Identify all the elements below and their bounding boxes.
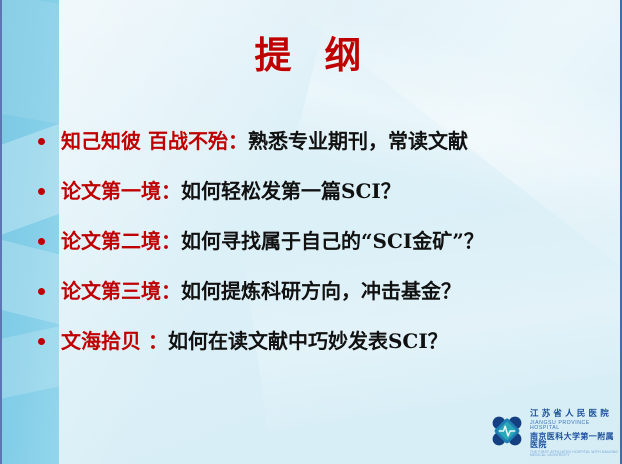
list-item-highlight: 文海拾贝 ： <box>61 329 168 353</box>
bullet-dot-icon <box>38 338 45 345</box>
list-item-body: 如何轻松发第一篇SCI？ <box>181 179 401 203</box>
list-item-highlight: 论文第一境： <box>61 179 181 203</box>
hospital-logo-text: 江苏省人民医院 JIANGSU PROVINCE HOSPITAL 南京医科大学… <box>530 410 620 458</box>
list-item-text: 文海拾贝 ：如何在读文献中巧妙发表SCI？ <box>61 330 448 352</box>
bullet-dot-icon <box>38 188 45 195</box>
list-item-highlight: 论文第二境： <box>61 229 181 253</box>
bullet-dot-icon <box>38 288 45 295</box>
list-item-body: 熟悉专业期刊，常读文献 <box>248 129 468 153</box>
bullet-dot-icon <box>38 138 45 145</box>
list-item-text: 论文第二境：如何寻找属于自己的“SCI金矿”？ <box>61 230 484 252</box>
hospital-subname-en: THE FIRST AFFILIATED HOSPITAL WITH NANJI… <box>530 451 620 458</box>
hospital-name-cn: 江苏省人民医院 <box>530 410 620 419</box>
slide-title: 提 纲 <box>2 25 622 79</box>
list-item-highlight: 知己知彼 百战不殆： <box>61 129 248 153</box>
bullet-dot-icon <box>38 238 45 245</box>
list-item-text: 论文第三境：如何提炼科研方向，冲击基金？ <box>61 280 461 302</box>
hospital-subname-cn: 南京医科大学第一附属医院 <box>530 433 620 449</box>
hospital-logo: 江苏省人民医院 JIANGSU PROVINCE HOSPITAL 南京医科大学… <box>489 410 620 458</box>
list-item: 论文第一境：如何轻松发第一篇SCI？ <box>36 166 606 216</box>
list-item: 论文第三境：如何提炼科研方向，冲击基金？ <box>36 266 606 316</box>
outline-list: 知己知彼 百战不殆：熟悉专业期刊，常读文献 论文第一境：如何轻松发第一篇SCI？… <box>36 116 606 366</box>
list-item-body: 如何寻找属于自己的“SCI金矿”？ <box>181 229 484 253</box>
list-item: 论文第二境：如何寻找属于自己的“SCI金矿”？ <box>36 216 606 266</box>
list-item-text: 知己知彼 百战不殆：熟悉专业期刊，常读文献 <box>61 130 468 152</box>
list-item-highlight: 论文第三境： <box>61 279 181 303</box>
list-item-text: 论文第一境：如何轻松发第一篇SCI？ <box>61 180 401 202</box>
hospital-name-en: JIANGSU PROVINCE HOSPITAL <box>530 421 620 431</box>
list-item-body: 如何提炼科研方向，冲击基金？ <box>181 279 461 303</box>
list-item-body: 如何在读文献中巧妙发表SCI？ <box>168 329 448 353</box>
hospital-clover-ecg-icon <box>489 413 525 454</box>
list-item: 文海拾贝 ：如何在读文献中巧妙发表SCI？ <box>36 316 606 366</box>
slide-canvas: 提 纲 知己知彼 百战不殆：熟悉专业期刊，常读文献 论文第一境：如何轻松发第一篇… <box>0 0 622 464</box>
list-item: 知己知彼 百战不殆：熟悉专业期刊，常读文献 <box>36 116 606 166</box>
